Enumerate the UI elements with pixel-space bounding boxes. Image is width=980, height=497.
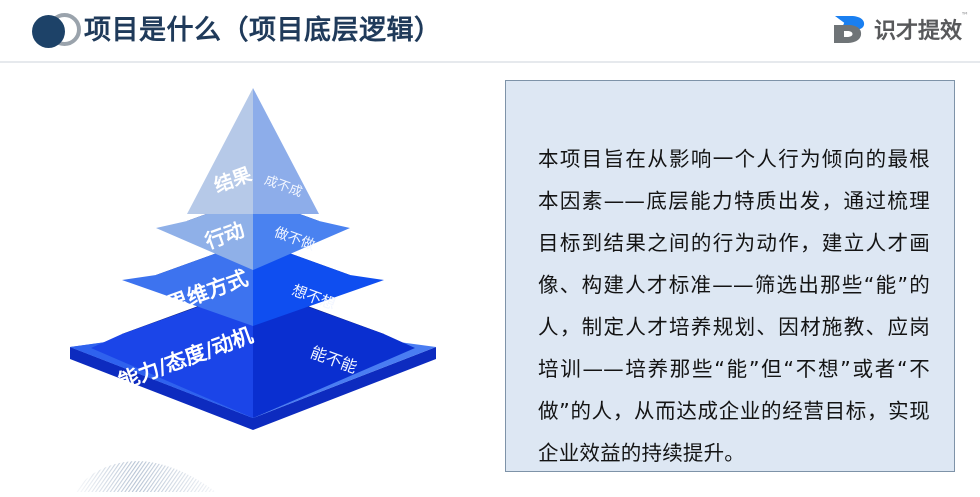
corporate-logo: 识才提效 ™ (831, 8, 962, 50)
slide-root: 项目是什么（项目底层逻辑） 识才提效 ™ (0, 0, 980, 488)
logo-solid-circle (32, 15, 65, 48)
project-description-text: 本项目旨在从影响一个人行为倾向的最根本因素——底层能力特质出发，通过梳理目标到结… (538, 138, 930, 474)
striped-swoosh-decoration-icon (68, 452, 218, 492)
pyramid-svg: 结果 成不成 行动 做不做 思维方式 想不想 能力/态度/动机 能不能 (60, 80, 460, 430)
trademark-symbol: ™ (961, 11, 969, 20)
d-letter-mark-icon (831, 12, 867, 46)
page-title: 项目是什么（项目底层逻辑） (84, 12, 442, 48)
header-divider (0, 61, 980, 63)
corporate-name: 识才提效 ™ (874, 13, 962, 45)
corporate-name-text: 识才提效 (874, 19, 962, 44)
slide-header: 项目是什么（项目底层逻辑） 识才提效 ™ (0, 0, 980, 62)
behavior-logic-pyramid: 结果 成不成 行动 做不做 思维方式 想不想 能力/态度/动机 能不能 (60, 80, 460, 430)
two-circles-logo-icon (26, 10, 86, 52)
project-description-panel: 本项目旨在从影响一个人行为倾向的最根本因素——底层能力特质出发，通过梳理目标到结… (505, 80, 955, 472)
